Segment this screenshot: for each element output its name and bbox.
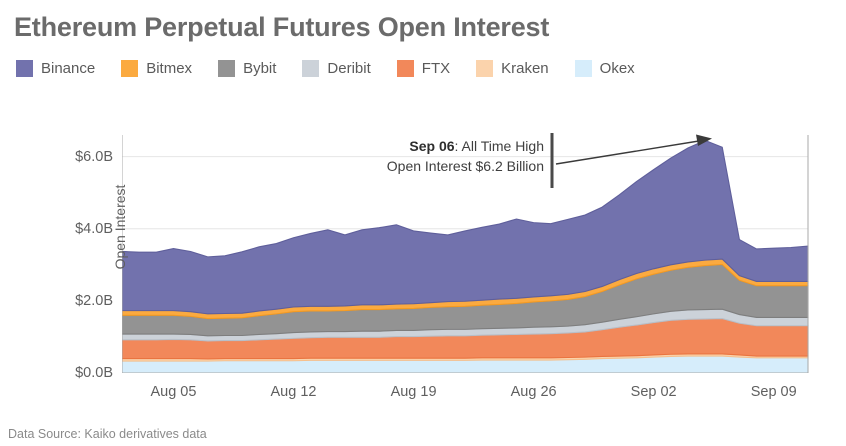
legend-swatch-icon (575, 60, 592, 77)
legend-swatch-icon (121, 60, 138, 77)
data-source-footer: Data Source: Kaiko derivatives data (8, 427, 207, 441)
legend-swatch-icon (476, 60, 493, 77)
legend-item-deribit[interactable]: Deribit (302, 60, 370, 77)
x-tick-label: Sep 09 (751, 384, 797, 400)
legend-label: Deribit (327, 60, 370, 77)
chart-root: Ethereum Perpetual Futures Open Interest… (0, 0, 846, 446)
legend-swatch-icon (397, 60, 414, 77)
y-tick-label: $4.0B (75, 221, 113, 237)
legend-label: Binance (41, 60, 95, 77)
legend-swatch-icon (218, 60, 235, 77)
y-tick-label: $0.0B (75, 365, 113, 381)
y-tick-label: $2.0B (75, 293, 113, 309)
x-tick-label: Aug 19 (391, 384, 437, 400)
legend-label: Bybit (243, 60, 276, 77)
y-axis-label: Open Interest (112, 147, 128, 307)
annotation-text: Sep 06: All Time High Open Interest $6.2… (336, 136, 544, 177)
legend-label: Kraken (501, 60, 549, 77)
annotation-line-1: Sep 06: All Time High (336, 136, 544, 156)
annotation-date: Sep 06 (409, 138, 454, 154)
y-tick-label: $6.0B (75, 149, 113, 165)
chart-legend: BinanceBitmexBybitDeribitFTXKrakenOkex (16, 60, 661, 77)
x-tick-label: Sep 02 (631, 384, 677, 400)
legend-item-binance[interactable]: Binance (16, 60, 95, 77)
annotation-line-2: Open Interest $6.2 Billion (336, 156, 544, 176)
legend-label: Bitmex (146, 60, 192, 77)
legend-label: FTX (422, 60, 450, 77)
legend-item-kraken[interactable]: Kraken (476, 60, 549, 77)
x-tick-label: Aug 26 (511, 384, 557, 400)
annotation-rest: : All Time High (455, 138, 544, 154)
x-tick-label: Aug 05 (150, 384, 196, 400)
legend-item-okex[interactable]: Okex (575, 60, 635, 77)
legend-item-ftx[interactable]: FTX (397, 60, 450, 77)
legend-item-bybit[interactable]: Bybit (218, 60, 276, 77)
legend-item-bitmex[interactable]: Bitmex (121, 60, 192, 77)
page-title: Ethereum Perpetual Futures Open Interest (14, 12, 549, 43)
legend-swatch-icon (302, 60, 319, 77)
legend-label: Okex (600, 60, 635, 77)
x-tick-label: Aug 12 (271, 384, 317, 400)
legend-swatch-icon (16, 60, 33, 77)
